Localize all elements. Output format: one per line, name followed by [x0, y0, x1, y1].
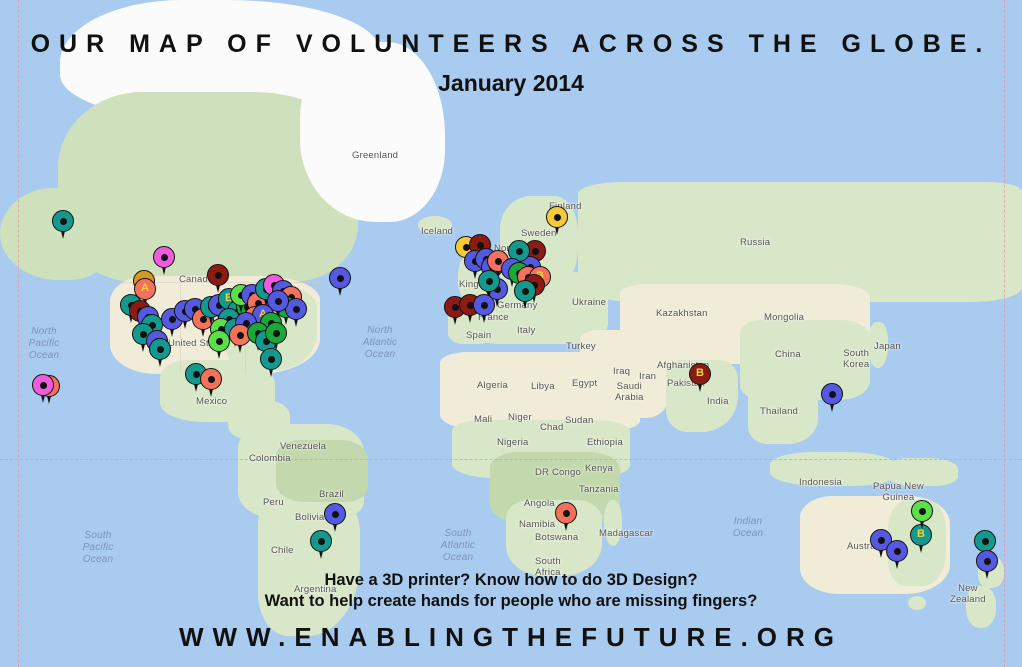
- volunteer-map-poster: North Pacific Ocean North Atlantic Ocean…: [0, 0, 1022, 667]
- pin-center-dot-icon: [193, 371, 200, 378]
- pin-center-dot-icon: [522, 288, 529, 295]
- pin-center-dot-icon: [829, 391, 836, 398]
- pin-center-dot-icon: [532, 248, 539, 255]
- pin-india[interactable]: B: [689, 363, 711, 385]
- pin-canada-central[interactable]: [153, 246, 175, 268]
- pin-us-se3[interactable]: [208, 330, 230, 352]
- pin-center-dot-icon: [169, 316, 176, 323]
- pin-center-dot-icon: [878, 537, 885, 544]
- pin-switzerland[interactable]: [514, 280, 536, 302]
- pin-center-dot-icon: [273, 330, 280, 337]
- land-japan: [868, 322, 888, 368]
- cta-line-2: Want to help create hands for people who…: [0, 592, 1022, 611]
- pin-center-dot-icon: [984, 558, 991, 565]
- pin-center-dot-icon: [516, 248, 523, 255]
- land-southeast-asia: [748, 382, 818, 444]
- page-title: OUR MAP OF VOLUNTEERS ACROSS THE GLOBE.: [0, 30, 1022, 59]
- pin-portugal[interactable]: [473, 294, 495, 316]
- pin-singapore[interactable]: [821, 383, 843, 405]
- pin-finland[interactable]: [546, 206, 568, 228]
- pin-center-dot-icon: [157, 346, 164, 353]
- pin-australia-qld[interactable]: [911, 500, 933, 522]
- land-madagascar: [604, 500, 622, 546]
- land-iceland: [418, 216, 452, 234]
- pin-center-dot-icon: [894, 548, 901, 555]
- page-subtitle: January 2014: [0, 70, 1022, 97]
- pin-center-dot-icon: [161, 254, 168, 261]
- pin-center-dot-icon: [275, 298, 282, 305]
- pin-center-dot-icon: [208, 376, 215, 383]
- pin-center-dot-icon: [982, 538, 989, 545]
- pin-mexico[interactable]: [200, 368, 222, 390]
- antimeridian-line-right: [1004, 0, 1005, 667]
- pin-center-dot-icon: [481, 302, 488, 309]
- pin-center-dot-icon: [554, 214, 561, 221]
- pin-us-fl[interactable]: [260, 348, 282, 370]
- pin-australia-vic[interactable]: [886, 540, 908, 562]
- pin-nz-south[interactable]: [976, 550, 998, 572]
- pin-hawaii[interactable]: [32, 374, 54, 396]
- pin-canada-east[interactable]: [207, 264, 229, 286]
- pin-center-dot-icon: [318, 538, 325, 545]
- pin-center-dot-icon: [563, 510, 570, 517]
- pin-label: B: [689, 363, 711, 385]
- pin-center-dot-icon: [293, 306, 300, 313]
- equator-line: [0, 459, 1022, 460]
- pin-center-dot-icon: [60, 218, 67, 225]
- pin-center-dot-icon: [216, 338, 223, 345]
- pin-us-se6[interactable]: [265, 322, 287, 344]
- land-indonesia: [770, 452, 896, 486]
- pin-botswana[interactable]: [555, 502, 577, 524]
- pin-brazil[interactable]: [324, 503, 346, 525]
- pin-center-dot-icon: [495, 258, 502, 265]
- land-italy: [508, 308, 532, 342]
- pin-alaska[interactable]: [52, 210, 74, 232]
- pin-nz-north[interactable]: [974, 530, 996, 552]
- pin-center-dot-icon: [919, 508, 926, 515]
- pin-center-dot-icon: [486, 278, 493, 285]
- pin-us-ca2[interactable]: [149, 338, 171, 360]
- pin-center-dot-icon: [140, 331, 147, 338]
- website-url[interactable]: WWW.ENABLINGTHEFUTURE.ORG: [0, 622, 1022, 653]
- land-southern-africa: [506, 500, 602, 576]
- pin-center-dot-icon: [337, 275, 344, 282]
- pin-center-dot-icon: [452, 304, 459, 311]
- pin-canada-far-east[interactable]: [329, 267, 351, 289]
- land-amazon: [276, 440, 368, 502]
- antimeridian-line-left: [18, 0, 19, 667]
- pin-france2[interactable]: [478, 270, 500, 292]
- pin-center-dot-icon: [237, 332, 244, 339]
- pin-center-dot-icon: [40, 382, 47, 389]
- pin-center-dot-icon: [268, 356, 275, 363]
- pin-center-dot-icon: [332, 511, 339, 518]
- land-greenland: [300, 42, 445, 222]
- pin-center-dot-icon: [215, 272, 222, 279]
- cta-line-1: Have a 3D printer? Know how to do 3D Des…: [0, 571, 1022, 590]
- land-png: [886, 458, 958, 486]
- pin-argentina[interactable]: [310, 530, 332, 552]
